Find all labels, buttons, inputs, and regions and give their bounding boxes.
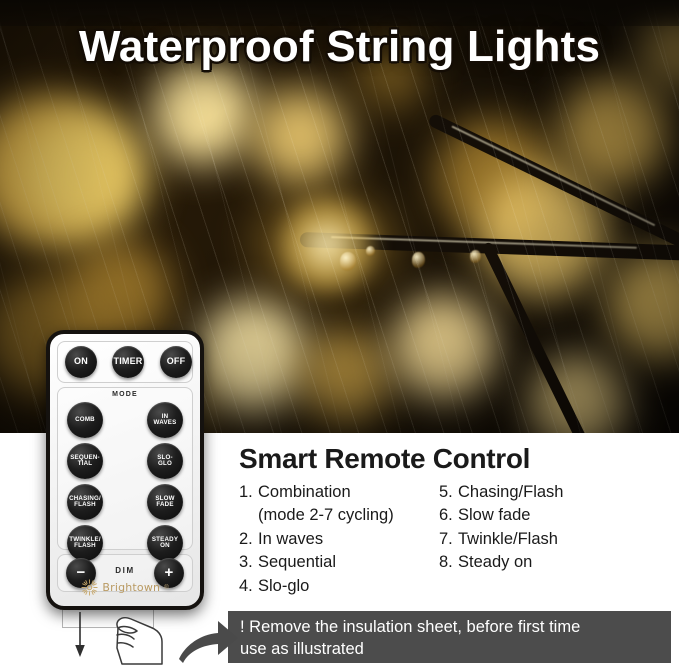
- remote-button-twinkle-flash[interactable]: TWINKLE/ FLASH: [67, 525, 103, 561]
- mode-list-item: 8.Steady on: [439, 551, 563, 574]
- remote-button-off[interactable]: OFF: [160, 346, 192, 378]
- mode-list-right-column: 5.Chasing/Flash 6.Slow fade 7.Twinkle/Fl…: [439, 481, 563, 575]
- mode-number: 5.: [439, 481, 458, 504]
- remote-button-in-waves[interactable]: IN WAVES: [147, 402, 183, 438]
- remote-button-steady-on[interactable]: STEADY ON: [147, 525, 183, 561]
- mode-section-label: MODE: [50, 391, 200, 398]
- button-line-1: COMB: [75, 416, 95, 423]
- mode-text: Chasing/Flash: [458, 483, 563, 501]
- page-title: Waterproof String Lights: [0, 22, 679, 72]
- mode-list-item: 6.Slow fade: [439, 504, 563, 527]
- mode-list-item: 4.Slo-glo: [239, 575, 394, 598]
- mode-text: Slo-glo: [258, 577, 309, 595]
- mode-number: 2.: [239, 528, 258, 551]
- brand-logo: Brightown ®: [50, 579, 200, 596]
- mode-number: 8.: [439, 551, 458, 574]
- remote-button-chasing-flash[interactable]: CHASING/ FLASH: [67, 484, 103, 520]
- mode-text: Slow fade: [458, 506, 530, 524]
- mode-text: In waves: [258, 530, 323, 548]
- button-line-2: FLASH: [74, 542, 96, 549]
- mode-list-item: 1.Combination: [239, 481, 394, 504]
- mode-list-item: 3.Sequential: [239, 551, 394, 574]
- mode-list-item: 5.Chasing/Flash: [439, 481, 563, 504]
- button-line-2: FLASH: [74, 501, 96, 508]
- remote-button-on[interactable]: ON: [65, 346, 97, 378]
- mode-text: Sequential: [258, 553, 336, 571]
- product-marketing-image: Waterproof String Lights ON TIMER OFF MO…: [0, 0, 679, 671]
- mode-text: Combination: [258, 483, 351, 501]
- remote-button-slo-glo[interactable]: SLO- GLO: [147, 443, 183, 479]
- button-line-2: GLO: [158, 460, 172, 467]
- remote-button-comb[interactable]: COMB: [67, 402, 103, 438]
- mode-text: (mode 2-7 cycling): [258, 506, 394, 524]
- mode-text: Steady on: [458, 553, 532, 571]
- button-line-2: ON: [160, 542, 170, 549]
- mode-number: 7.: [439, 528, 458, 551]
- hand-illustration: [104, 608, 170, 671]
- remote-button-sequential[interactable]: SEQUEN- TIAL: [67, 443, 103, 479]
- mode-number: 3.: [239, 551, 258, 574]
- warning-line-2: use as illustrated: [240, 638, 661, 660]
- remote-button-timer[interactable]: TIMER: [112, 346, 144, 378]
- mode-list-item: 2.In waves: [239, 528, 394, 551]
- section-heading: Smart Remote Control: [239, 443, 530, 475]
- mode-number: 1.: [239, 481, 258, 504]
- button-line-2: WAVES: [154, 419, 177, 426]
- remote-button-slow-fade[interactable]: SLOW FADE: [147, 484, 183, 520]
- button-line-2: TIAL: [78, 460, 93, 467]
- registered-mark: ®: [164, 585, 168, 591]
- mode-list-item-note: (mode 2-7 cycling): [239, 504, 394, 527]
- remote-control[interactable]: ON TIMER OFF MODE COMB SEQUEN- TIAL CHAS…: [46, 330, 204, 610]
- mode-text: Twinkle/Flash: [458, 530, 558, 548]
- warning-banner: ! Remove the insulation sheet, before fi…: [228, 611, 671, 663]
- sunburst-icon: [81, 579, 98, 596]
- mode-number: 6.: [439, 504, 458, 527]
- mode-number: 4.: [239, 575, 258, 598]
- curved-arrow-icon: [176, 612, 240, 671]
- warning-line-1: ! Remove the insulation sheet, before fi…: [240, 616, 661, 638]
- down-arrow-icon: [73, 612, 87, 663]
- button-line-2: FADE: [156, 501, 173, 508]
- mode-list-left-column: 1.Combination (mode 2-7 cycling) 2.In wa…: [239, 481, 394, 598]
- brand-name: Brightown: [102, 581, 160, 594]
- mode-list-item: 7.Twinkle/Flash: [439, 528, 563, 551]
